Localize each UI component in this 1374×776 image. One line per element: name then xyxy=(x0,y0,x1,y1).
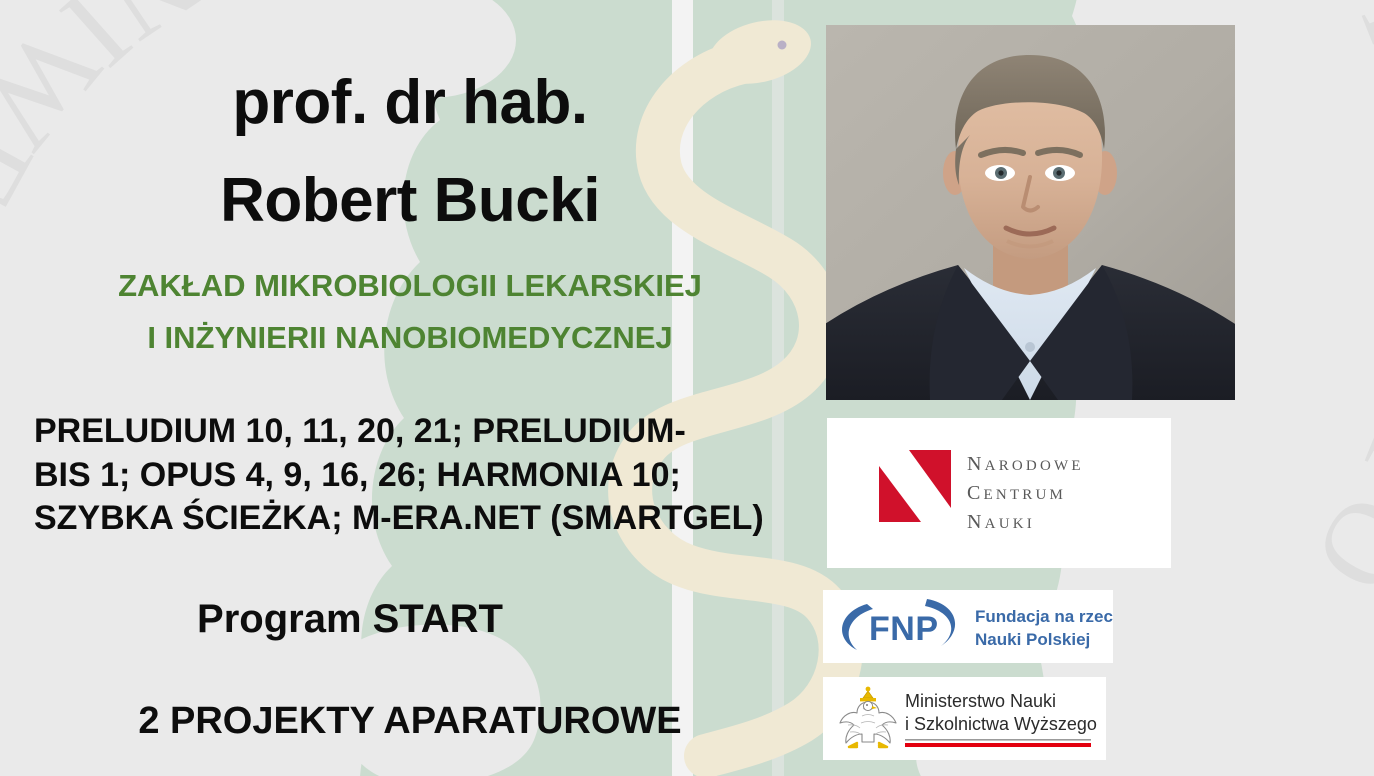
presentation-slide: UNIWERSYTET BIAŁYSTOK xyxy=(0,0,1374,776)
logo-ministerstwo-nauki: Ministerstwo Nauki i Szkolnictwa Wyższeg… xyxy=(823,677,1106,760)
mnisw-rule-gray xyxy=(905,739,1091,741)
logo-narodowe-centrum-nauki: Narodowe Centrum Nauki NARODOWE CENTRUM … xyxy=(827,418,1171,568)
grants-line-1: PRELUDIUM 10, 11, 20, 21; PRELUDIUM- xyxy=(34,410,824,454)
fnp-line-1: Fundacja na rzecz xyxy=(975,607,1113,626)
department-line-1: ZAKŁAD MIKROBIOLOGII LEKARSKIEJ xyxy=(0,270,820,301)
ncn-mark xyxy=(879,450,951,522)
fnp-line-2: Nauki Polskiej xyxy=(975,630,1090,649)
fnp-acronym: FNP xyxy=(869,610,939,648)
grants-list: PRELUDIUM 10, 11, 20, 21; PRELUDIUM- BIS… xyxy=(34,410,824,541)
portrait-photo: Portrait photograph of prof. dr hab. Rob… xyxy=(826,25,1235,400)
program-start-label: Program START xyxy=(0,597,700,642)
department-line-2: I INŻYNIERII NANOBIOMEDYCZNEJ xyxy=(0,322,820,353)
mnisw-line-1: Ministerstwo Nauki xyxy=(905,691,1056,711)
grants-line-3: SZYBKA ŚCIEŻKA; M-ERA.NET (SMARTGEL) xyxy=(34,497,824,541)
grants-line-2: BIS 1; OPUS 4, 9, 16, 26; HARMONIA 10; xyxy=(34,454,824,498)
equipment-projects-label: 2 PROJEKTY APARATUROWE xyxy=(0,700,820,743)
logo-fundacja-na-rzecz-nauki-polskiej: Fundacja na rzecz Nauki Polskiej FNP Fun… xyxy=(823,590,1113,663)
mnisw-rule-red xyxy=(905,743,1091,747)
text-column: prof. dr hab. Robert Bucki ZAKŁAD MIKROB… xyxy=(0,0,820,776)
mnisw-line-2: i Szkolnictwa Wyższego xyxy=(905,714,1097,734)
page-title-line-2: Robert Bucki xyxy=(0,168,820,233)
page-title-line-1: prof. dr hab. xyxy=(0,70,820,135)
